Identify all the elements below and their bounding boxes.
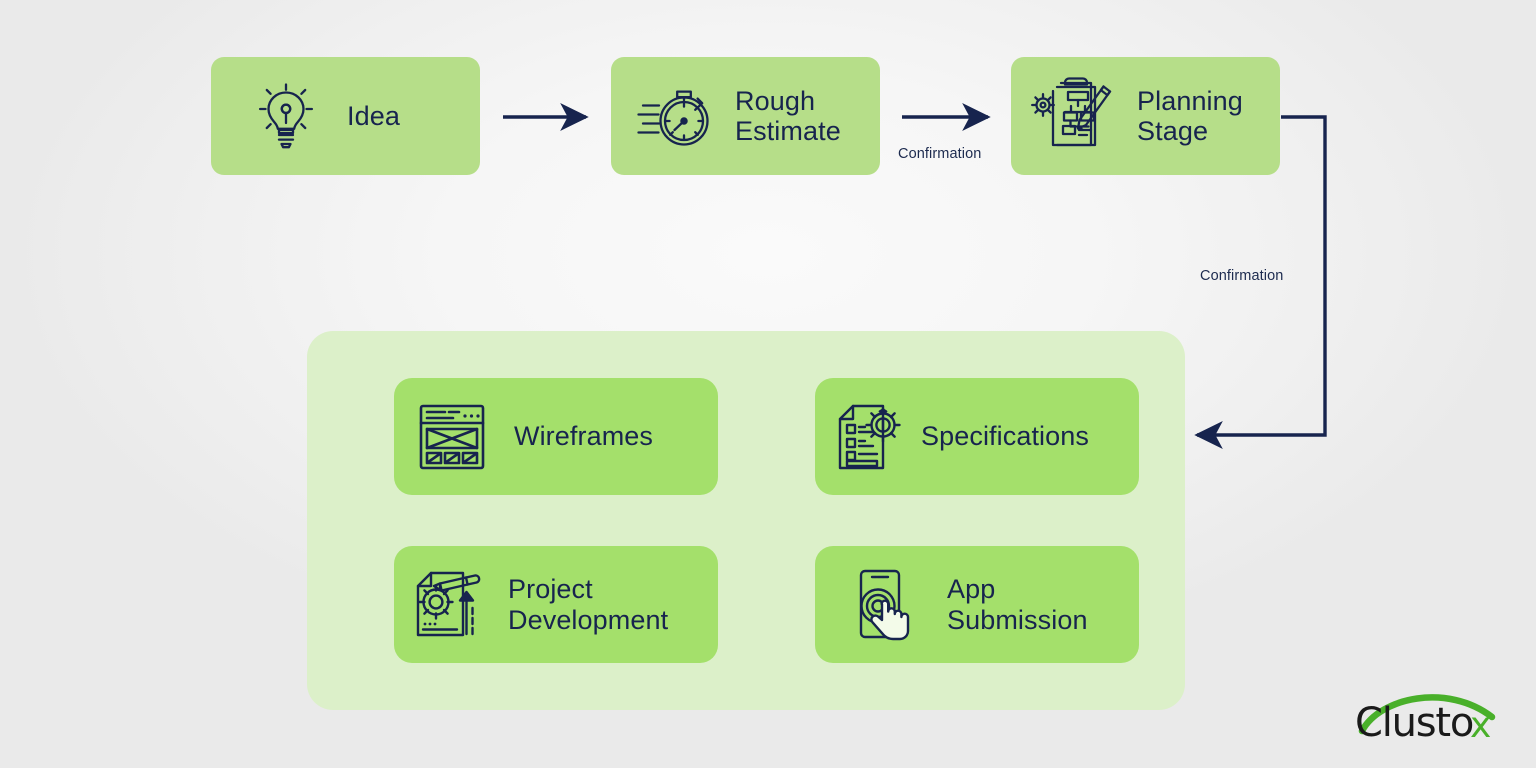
stage-node-planning-stage[interactable]: Planning Stage bbox=[1011, 57, 1280, 175]
mobile-tap-hand-icon bbox=[851, 564, 923, 646]
group-node-app-submission[interactable]: App Submission bbox=[815, 546, 1139, 663]
group-node-project-development[interactable]: Project Development bbox=[394, 546, 718, 663]
stage-label-planning-stage: Planning Stage bbox=[1137, 86, 1243, 146]
diagram-canvas: Confirmation Confirmation bbox=[0, 0, 1536, 768]
logo-accent-x: x bbox=[1470, 705, 1490, 746]
document-gear-pencil-arrow-icon bbox=[410, 564, 494, 646]
stage-label-rough-estimate: Rough Estimate bbox=[735, 86, 841, 146]
group-node-wireframes[interactable]: Wireframes bbox=[394, 378, 718, 495]
stage-label-idea: Idea bbox=[347, 101, 400, 131]
lightbulb-icon bbox=[255, 82, 317, 150]
document-gear-icon bbox=[831, 397, 907, 477]
group-label-wireframes: Wireframes bbox=[514, 421, 653, 451]
logo-wordmark: Clusto bbox=[1355, 700, 1473, 746]
group-label-specifications: Specifications bbox=[921, 421, 1089, 451]
clustox-logo[interactable]: Clusto x bbox=[1352, 683, 1522, 757]
group-label-app-submission: App Submission bbox=[947, 574, 1088, 634]
stage-node-idea[interactable]: Idea bbox=[211, 57, 480, 175]
clipboard-gear-pencil-icon bbox=[1027, 74, 1119, 158]
group-node-specifications[interactable]: Specifications bbox=[815, 378, 1139, 495]
stage-node-rough-estimate[interactable]: Rough Estimate bbox=[611, 57, 880, 175]
wireframe-layout-icon bbox=[412, 397, 492, 477]
connector-label-confirmation-1: Confirmation bbox=[898, 146, 981, 162]
stopwatch-icon bbox=[637, 79, 713, 153]
connector-label-confirmation-2: Confirmation bbox=[1200, 268, 1283, 284]
group-label-project-development: Project Development bbox=[508, 574, 668, 634]
